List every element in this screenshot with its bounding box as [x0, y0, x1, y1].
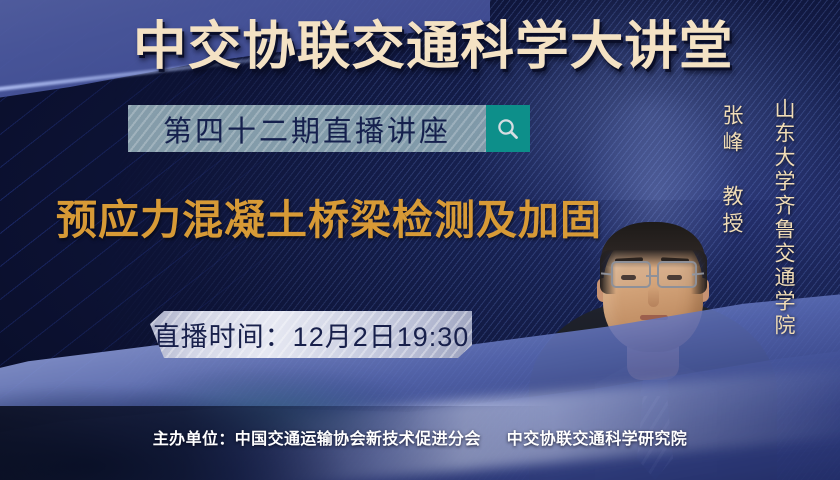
nose	[648, 287, 659, 307]
footer-institute: 中交协联交通科学研究院	[507, 431, 687, 448]
page-title: 中交协联交通科学大讲堂	[133, 20, 734, 75]
subtitle-panel: 第四十二期直播讲座	[128, 105, 486, 152]
glasses-lens-right	[657, 261, 697, 288]
search-button[interactable]	[486, 105, 530, 152]
lecture-topic: 预应力混凝土桥梁检测及加固	[56, 186, 602, 246]
glasses-bridge	[646, 275, 658, 277]
broadcast-time-banner: 直播时间：12月2日19:30	[150, 311, 472, 358]
footer-organizer: 主办单位：中国交通运输协会新技术促进分会	[153, 431, 481, 448]
speaker-organization: 山东大学齐鲁交通学院	[766, 98, 796, 338]
footer: 主办单位：中国交通运输协会新技术促进分会中交协联交通科学研究院	[0, 425, 840, 449]
subtitle-label: 第四十二期直播讲座	[163, 108, 451, 150]
speaker-name-title: 张峰 教授	[714, 104, 744, 239]
subtitle-bar: 第四十二期直播讲座	[128, 105, 530, 152]
search-icon	[495, 116, 521, 142]
glasses-lens-left	[611, 261, 651, 288]
broadcast-time-label: 直播时间：12月2日19:30	[153, 315, 470, 354]
live-lecture-poster: 中交协联交通科学大讲堂 第四十二期直播讲座 预应力混凝土桥梁检测及加固 直播时间…	[0, 0, 840, 480]
